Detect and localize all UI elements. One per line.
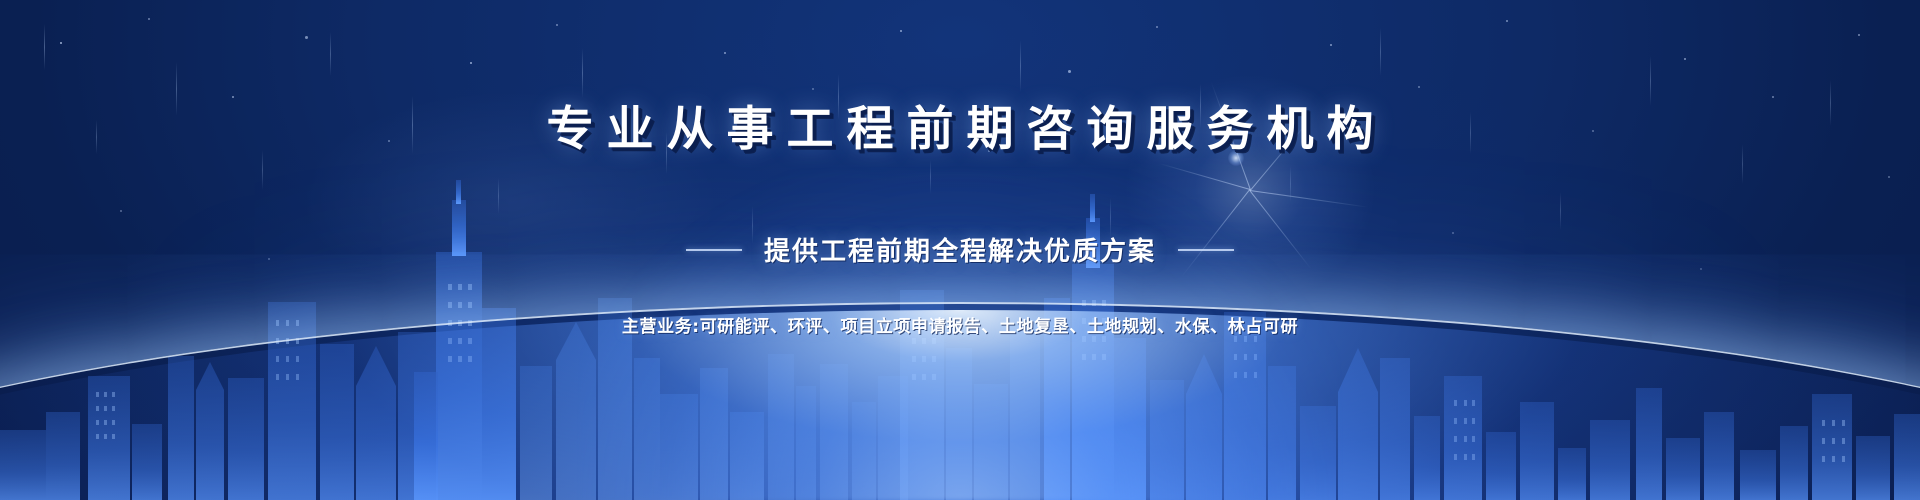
hero-banner: 专业从事工程前期咨询服务机构 提供工程前期全程解决优质方案 主营业务:可研能评、… [0, 0, 1920, 500]
dash-left-icon [686, 249, 742, 251]
dash-right-icon [1178, 249, 1234, 251]
banner-services-list: 主营业务:可研能评、环评、项目立项申请报告、土地复垦、土地规划、水保、林占可研 [622, 312, 1298, 337]
banner-content: 专业从事工程前期咨询服务机构 提供工程前期全程解决优质方案 主营业务:可研能评、… [0, 0, 1920, 354]
banner-title: 专业从事工程前期咨询服务机构 [534, 106, 1387, 153]
skyline-layer-center [768, 354, 908, 500]
banner-subtitle-row: 提供工程前期全程解决优质方案 [686, 209, 1234, 289]
banner-subtitle: 提供工程前期全程解决优质方案 [764, 231, 1156, 268]
